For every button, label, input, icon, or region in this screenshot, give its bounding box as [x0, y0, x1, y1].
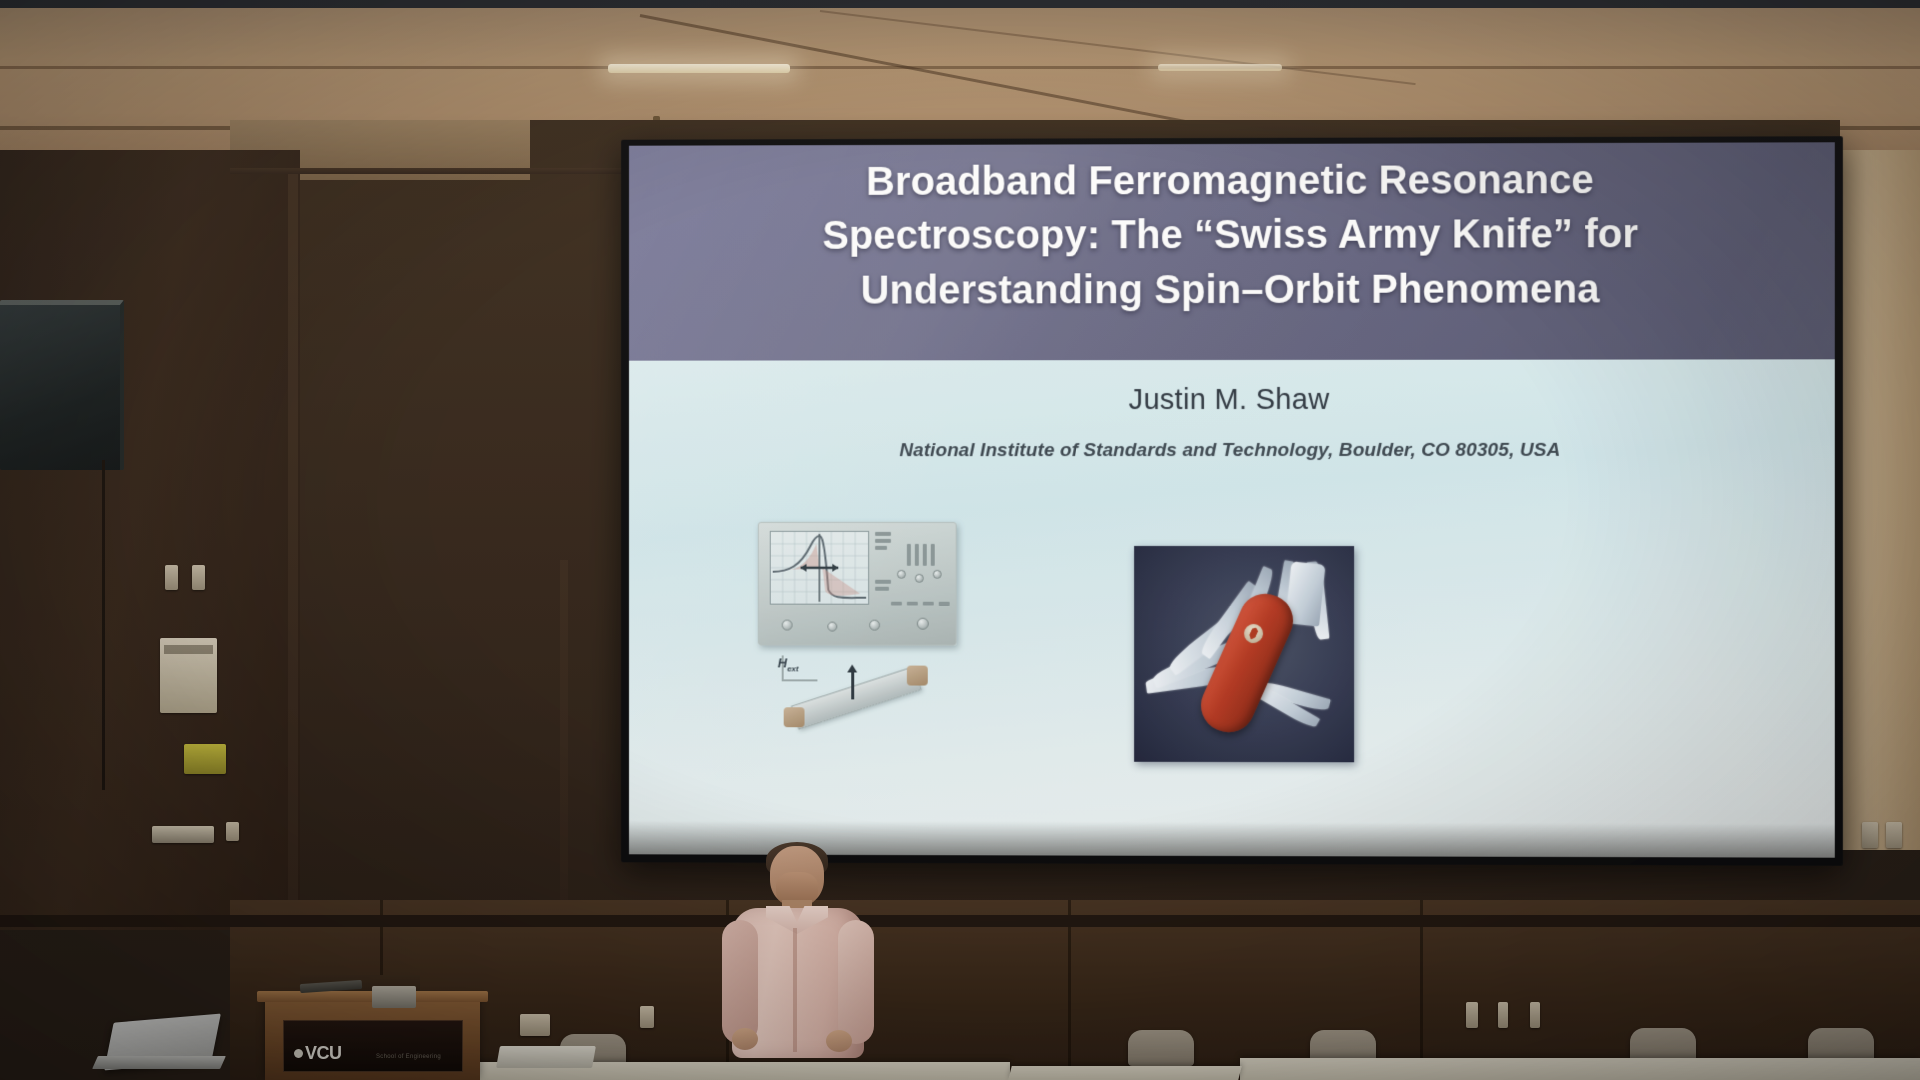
right-wall	[1830, 150, 1920, 850]
slide-author: Justin M. Shaw	[629, 383, 1835, 417]
podium: VCU School of Engineering	[265, 1000, 480, 1080]
wall-monitor	[0, 300, 124, 470]
slide-affiliation: National Institute of Standards and Tech…	[629, 440, 1835, 462]
waveguide-sample-figure: Hext	[778, 655, 947, 741]
wall-switch-lower[interactable]	[226, 822, 239, 841]
slide-title-line-3: Understanding Spin–Orbit Phenomena	[663, 262, 1801, 318]
front-wall-switch-4[interactable]	[640, 1006, 654, 1028]
vcu-dot-icon	[294, 1049, 303, 1058]
slide-body: Justin M. Shaw National Institute of Sta…	[629, 359, 1835, 857]
ceiling-light-right	[1158, 64, 1282, 71]
presenter	[718, 846, 878, 1080]
instrument-display	[770, 531, 869, 605]
ceiling-light-left	[608, 64, 790, 73]
front-table-center	[1008, 1066, 1241, 1080]
chair-2	[1128, 1030, 1194, 1066]
front-wall-switch-3[interactable]	[1530, 1002, 1540, 1028]
left-wall	[0, 150, 300, 930]
presenter-arm-left	[722, 920, 758, 1044]
wall-sign-placard	[160, 638, 217, 713]
vcu-logo: VCU	[294, 1043, 342, 1064]
front-wall-switch-1[interactable]	[1466, 1002, 1478, 1028]
presenter-arm-right	[838, 920, 874, 1044]
waveguide-connector-left	[784, 707, 805, 727]
wall-panel-column-2	[560, 560, 568, 910]
slide-title-line-1: Broadband Ferromagnetic Resonance	[663, 152, 1801, 209]
podium-laptop-base	[92, 1056, 226, 1069]
field-arrow-icon	[851, 669, 853, 699]
desk-paper-stack	[496, 1046, 596, 1068]
front-wall-switch-2[interactable]	[1498, 1002, 1508, 1028]
light-switch-right-wall-2[interactable]	[1886, 822, 1902, 848]
projection-screen-frame: Broadband Ferromagnetic Resonance Spectr…	[621, 136, 1843, 866]
wall-baseboard	[0, 915, 1920, 927]
wall-switch-upper-right[interactable]	[192, 565, 205, 590]
light-switch-right-wall[interactable]	[1862, 822, 1878, 848]
front-wall-outlet[interactable]	[520, 1014, 550, 1036]
coplanar-waveguide	[791, 666, 922, 730]
lecture-hall-frame: Broadband Ferromagnetic Resonance Spectr…	[0, 0, 1920, 1080]
vcu-logo-subtext: School of Engineering	[376, 1054, 441, 1060]
slide-title-line-2: Spectroscopy: The “Swiss Army Knife” for	[663, 207, 1801, 264]
podium-equipment-box	[372, 986, 416, 1008]
wall-panel-column	[288, 174, 298, 914]
presenter-shirt-placket	[793, 928, 797, 1052]
instrument-knobs	[897, 570, 949, 604]
swiss-army-knife-photo	[1134, 546, 1354, 762]
hanging-cable	[102, 460, 105, 790]
podium-logo-plate: VCU School of Engineering	[283, 1020, 463, 1072]
presenter-hand-right	[826, 1030, 852, 1052]
front-table-right	[1240, 1058, 1920, 1080]
resonance-curve-icon	[771, 532, 868, 604]
slide-title: Broadband Ferromagnetic Resonance Spectr…	[629, 152, 1835, 318]
projection-screen: Broadband Ferromagnetic Resonance Spectr…	[629, 142, 1835, 857]
presenter-hand-left	[732, 1028, 758, 1050]
field-label: Hext	[778, 655, 799, 673]
wall-outlet-plate[interactable]	[152, 826, 214, 843]
wall-amber-panel	[184, 744, 226, 774]
vna-instrument-figure	[758, 522, 957, 646]
waveguide-connector-right	[907, 666, 928, 686]
wall-switch-upper-left[interactable]	[165, 565, 178, 590]
